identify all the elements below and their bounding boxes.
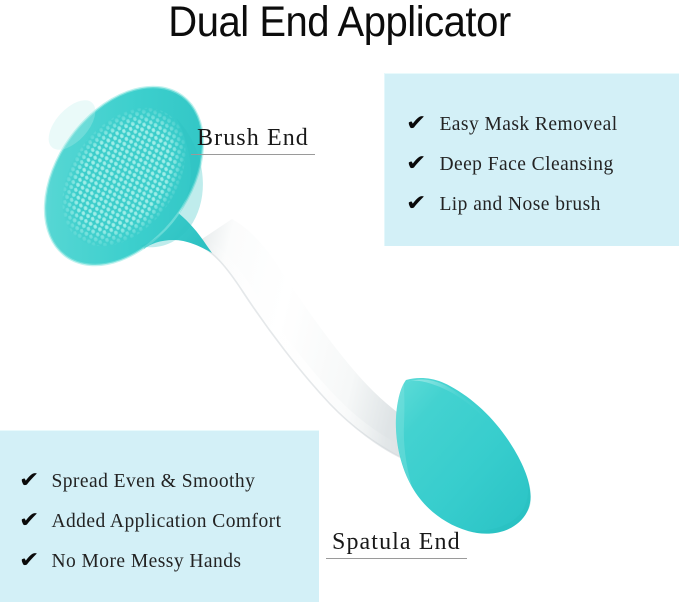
page-title: Dual End Applicator: [24, 0, 655, 47]
feature-label: Lip and Nose brush: [439, 195, 600, 215]
list-item: ✔ Easy Mask Removeal: [407, 113, 618, 135]
feature-box-bottom-left: ✔ Spread Even & Smoothy ✔ Added Applicat…: [0, 430, 319, 602]
callout-brush-end: Brush End: [197, 126, 309, 155]
feature-box-top-right: ✔ Easy Mask Removeal ✔ Deep Face Cleansi…: [384, 73, 679, 246]
list-item: ✔ Deep Face Cleansing: [407, 153, 614, 175]
check-icon: ✔: [406, 113, 427, 135]
feature-label: Deep Face Cleansing: [439, 155, 613, 175]
feature-label: Added Application Comfort: [51, 512, 281, 532]
callout-spatula-end: Spatula End: [332, 530, 461, 559]
feature-label: Easy Mask Removeal: [439, 115, 617, 135]
list-item: ✔ Added Application Comfort: [20, 510, 282, 532]
list-item: ✔ No More Messy Hands: [20, 550, 241, 572]
check-icon: ✔: [19, 550, 40, 572]
check-icon: ✔: [19, 510, 40, 532]
brush-collar: [133, 196, 212, 253]
spatula-head: [396, 378, 531, 534]
product-handle: [196, 219, 424, 459]
feature-label: No More Messy Hands: [51, 552, 241, 572]
feature-list-bottom-left: ✔ Spread Even & Smoothy ✔ Added Applicat…: [0, 431, 319, 602]
brush-head: [12, 57, 235, 295]
feature-list-top-right: ✔ Easy Mask Removeal ✔ Deep Face Cleansi…: [385, 74, 679, 246]
list-item: ✔ Lip and Nose brush: [407, 193, 601, 215]
check-icon: ✔: [406, 153, 427, 175]
feature-label: Spread Even & Smoothy: [51, 472, 255, 492]
product-infographic: Dual End Applicator Brush End Spatula En…: [0, 0, 679, 607]
check-icon: ✔: [406, 193, 427, 215]
check-icon: ✔: [19, 470, 40, 492]
list-item: ✔ Spread Even & Smoothy: [20, 470, 255, 492]
